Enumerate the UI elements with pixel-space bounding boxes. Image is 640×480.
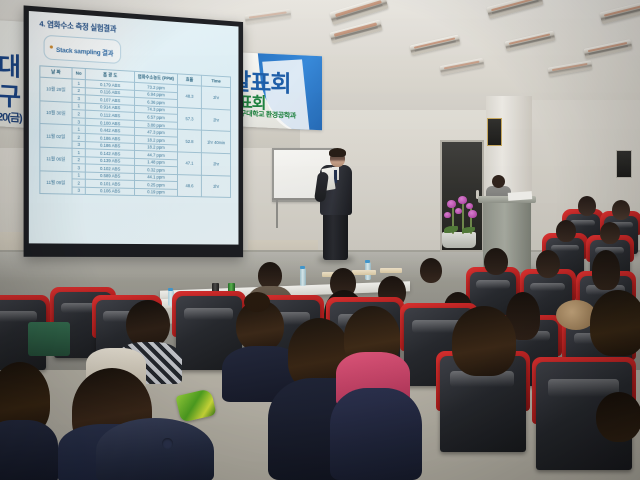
near-hair-right2 bbox=[452, 306, 516, 376]
audience-head-b3 bbox=[556, 220, 576, 242]
orchid-bloom-2 bbox=[455, 208, 462, 214]
near-cap bbox=[96, 418, 214, 480]
projection-screen: 4. 염화수소 측정 실험결과 Stack sampling 결과 날 짜 No… bbox=[24, 5, 244, 257]
bullet-dot-icon bbox=[50, 46, 53, 49]
audience-hair-b7 bbox=[592, 250, 620, 290]
cell-date: 11월 02일 bbox=[40, 124, 72, 148]
bottle-cap-3 bbox=[168, 288, 173, 291]
bottle-cap-2 bbox=[365, 260, 370, 263]
audience-head-b6 bbox=[536, 250, 560, 278]
banner-right-line3: 대구대학교 환경공학과 bbox=[234, 108, 296, 121]
whiteboard-leg-left bbox=[276, 198, 278, 228]
cell-date: 11월 09일 bbox=[40, 171, 72, 195]
orchid-bloom-5 bbox=[468, 210, 477, 218]
cell-no: 3 bbox=[72, 187, 86, 195]
wall-speaker-right bbox=[616, 150, 632, 178]
orchid-bloom-3 bbox=[458, 196, 467, 204]
audience-head-b1 bbox=[578, 196, 596, 216]
presenter-legs bbox=[323, 212, 348, 260]
cell-date: 10월 30일 bbox=[40, 101, 72, 126]
cell-efficiency: 52.8 bbox=[177, 130, 201, 153]
orchid-bloom-6 bbox=[444, 212, 451, 218]
orchid-bloom-1 bbox=[447, 200, 456, 208]
cell-time: 2hr bbox=[202, 175, 231, 198]
cell-time: 2hr bbox=[202, 108, 231, 131]
cell-ppm: 0.19 ppm bbox=[134, 188, 177, 196]
near-body-pink-coat bbox=[330, 388, 422, 480]
cell-time: 2hr bbox=[202, 86, 231, 110]
banner-left-line3: 20(금) bbox=[0, 108, 22, 125]
audience-head-c4 bbox=[420, 258, 442, 283]
near-hair-right3 bbox=[590, 290, 640, 356]
screen-surface: 4. 염화수소 측정 실험결과 Stack sampling 결과 날 짜 No… bbox=[29, 11, 239, 245]
cell-efficiency: 57.3 bbox=[177, 107, 201, 130]
near-cap-button bbox=[162, 438, 173, 449]
slide-bullet-box: Stack sampling 결과 bbox=[44, 35, 122, 64]
green-side-panel bbox=[28, 322, 70, 356]
water-bottle-1 bbox=[300, 268, 306, 286]
slide-data-table: 날 짜 No 흡 광 도 염화수소농도 (PPM) 효율 Time 10월 29… bbox=[39, 65, 231, 198]
near-head-boy bbox=[126, 300, 170, 348]
slide-content: 4. 염화수소 측정 실험결과 Stack sampling 결과 날 짜 No… bbox=[29, 11, 239, 245]
presenter-hair bbox=[329, 148, 346, 157]
audience-head-b5 bbox=[484, 248, 508, 275]
lecture-hall-photo: 대 구 20(금) ❄ ❄ ❄ 발표회 표회 대구대학교 환경공학과 4. 염화… bbox=[0, 0, 640, 480]
cell-date: 11월 06일 bbox=[40, 147, 72, 171]
th-no: No bbox=[72, 68, 86, 80]
cell-date: 10월 29일 bbox=[40, 77, 72, 102]
cell-efficiency: 47.1 bbox=[177, 152, 201, 175]
orchid-bloom-4 bbox=[466, 203, 473, 209]
snack-tray-3 bbox=[380, 268, 402, 273]
audience-head-b4 bbox=[600, 222, 620, 244]
bottle-cap-1 bbox=[300, 266, 305, 269]
flower-pot bbox=[442, 232, 476, 248]
audience-head-c1 bbox=[258, 262, 282, 289]
slide-bullet-text: Stack sampling 결과 bbox=[56, 47, 113, 58]
snack-bag-icon bbox=[175, 388, 216, 422]
moderator-head bbox=[492, 175, 505, 188]
cell-time: 1hr 40min bbox=[202, 131, 231, 154]
audience-head-b2 bbox=[612, 200, 630, 220]
lectern-paper bbox=[508, 191, 532, 201]
wall-speaker-left bbox=[487, 118, 502, 146]
near-body-far-left bbox=[0, 420, 58, 480]
slide-table-body: 10월 29일10.179 ABS73.2 ppm48.32hr20.116 A… bbox=[40, 77, 231, 197]
near-bun bbox=[244, 292, 270, 312]
cell-time: 2hr bbox=[202, 153, 231, 176]
cell-efficiency: 48.3 bbox=[177, 85, 201, 109]
snack-tray-2 bbox=[352, 270, 376, 275]
cell-efficiency: 48.6 bbox=[177, 174, 201, 197]
near-head-right4 bbox=[596, 392, 640, 442]
cell-absorbance: 0.106 ABS bbox=[86, 187, 135, 196]
